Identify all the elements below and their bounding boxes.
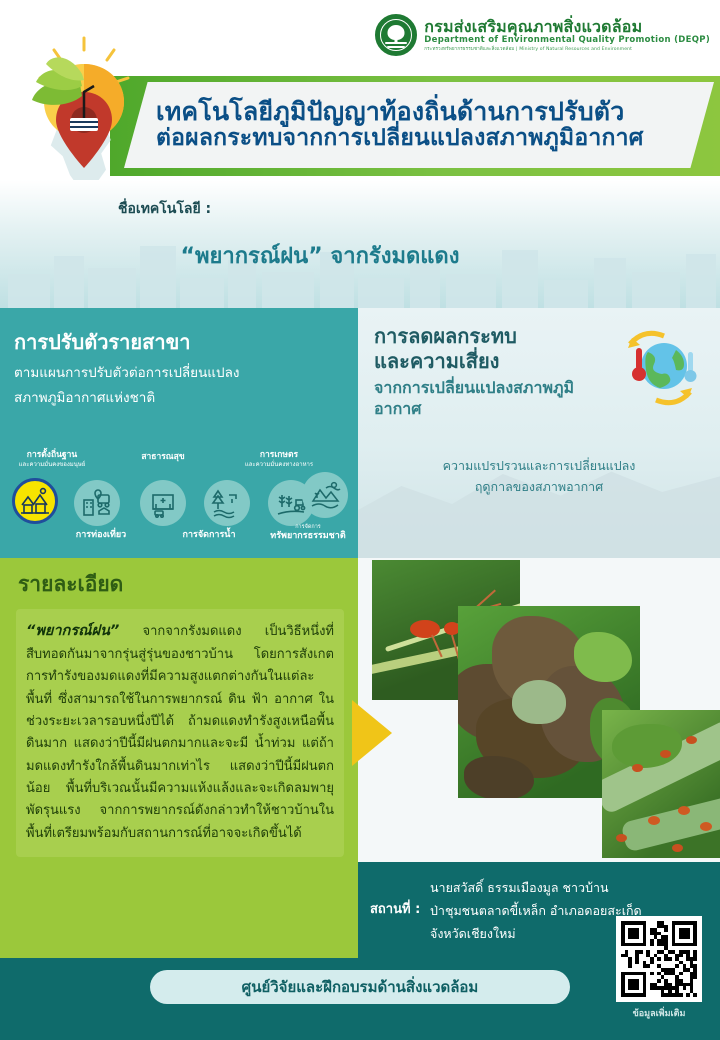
globe-thermometer-climate-icon	[614, 322, 706, 414]
sector-label-settlement: การตั้งถิ่นฐาน และความมั่นคงของมนุษย์	[2, 450, 102, 468]
risk-note-line1: ความแปรปรวนและการเปลี่ยนแปลง	[358, 456, 720, 477]
sector-panel-heading: การปรับตัวรายสาขา	[14, 326, 344, 358]
banner-title-line2: ต่อผลกระทบจากการเปลี่ยนแปลงสภาพภูมิอากาศ	[156, 126, 714, 152]
risk-heading-line1: การลดผลกระทบ	[374, 324, 604, 349]
details-heading: รายละเอียด	[18, 568, 358, 601]
poster-footer: ศูนย์วิจัยและฝึกอบรมด้านสิ่งแวดล้อม ข้อม…	[0, 958, 720, 1040]
poster-root: กรมส่งเสริมคุณภาพสิ่งแวดล้อม Department …	[0, 0, 720, 1040]
risk-note-line2: ฤดูกาลของสภาพอากาศ	[358, 477, 720, 498]
sector-label-natural-resources: การจัดการ ทรัพยากรธรรมชาติ	[258, 524, 358, 541]
sector-icon-water-management[interactable]	[204, 480, 250, 526]
place-line1: นายสวัสดิ์ ธรรมเมืองมูล ชาวบ้าน	[430, 876, 660, 899]
risk-heading-line3: จากการเปลี่ยนแปลงสภาพภูมิอากาศ	[374, 378, 604, 420]
technology-name-band: ชื่อเทคโนโลยี : “พยากรณ์ฝน” จากรังมดแดง	[0, 180, 720, 308]
photo-collage	[358, 558, 720, 868]
details-lead: “พยากรณ์ฝน”	[26, 623, 119, 639]
title-banner: เทคโนโลยีภูมิปัญญาท้องถิ่นด้านการปรับตัว…	[110, 76, 720, 176]
sector-label-agriculture: การเกษตร และความมั่นคงทางอาหาร	[224, 450, 334, 468]
risk-reduction-panel: การลดผลกระทบ และความเสี่ยง จากการเปลี่ยน…	[358, 308, 720, 558]
deqp-logo: กรมส่งเสริมคุณภาพสิ่งแวดล้อม Department …	[375, 14, 710, 56]
technology-name: “พยากรณ์ฝน” จากรังมดแดง	[0, 238, 640, 273]
details-panel: รายละเอียด “พยากรณ์ฝน” จากจากรังมดแดง เป…	[0, 558, 358, 958]
water-management-icon	[211, 487, 243, 519]
natural-resources-mountain-icon	[309, 479, 341, 511]
banner-title-line1: เทคโนโลยีภูมิปัญญาท้องถิ่นด้านการปรับตัว	[156, 98, 714, 126]
tourism-transport-icon	[81, 487, 113, 519]
research-center-name: ศูนย์วิจัยและฝึกอบรมด้านสิ่งแวดล้อม	[150, 970, 570, 1004]
sector-icon-row: การตั้งถิ่นฐาน และความมั่นคงของมนุษย์ สา…	[0, 450, 358, 558]
sector-panel-subheading-line2: สภาพภูมิอากาศแห่งชาติ	[14, 388, 344, 408]
details-body: “พยากรณ์ฝน” จากจากรังมดแดง เป็นวิธีหนึ่ง…	[16, 609, 344, 857]
risk-heading-line2: และความเสี่ยง	[374, 349, 604, 374]
org-name-th: กรมส่งเสริมคุณภาพสิ่งแวดล้อม	[424, 18, 710, 36]
org-name-en: Department of Environmental Quality Prom…	[424, 36, 710, 46]
technology-label: ชื่อเทคโนโลยี :	[118, 198, 211, 220]
weaver-ants-on-leaves-photo	[602, 710, 720, 858]
sector-icon-natural-resources[interactable]	[302, 472, 348, 518]
hospital-icon	[147, 487, 179, 519]
sector-icon-tourism-transport[interactable]	[74, 480, 120, 526]
details-text: จากจากรังมดแดง เป็นวิธีหนึ่งที่สืบทอดกัน…	[26, 624, 334, 841]
poster-header: กรมส่งเสริมคุณภาพสิ่งแวดล้อม Department …	[0, 0, 720, 180]
sector-icon-settlement-houses[interactable]	[12, 478, 58, 524]
sector-label-tourism: การท่องเที่ยว	[56, 530, 146, 541]
sector-panel-subheading-line1: ตามแผนการปรับตัวต่อการเปลี่ยนแปลง	[14, 363, 344, 383]
org-ministry: กระทรวงทรัพยากรธรรมชาติและสิ่งแวดล้อม | …	[424, 47, 710, 52]
qr-caption: ข้อมูลเพิ่มเติม	[616, 1006, 702, 1020]
place-label: สถานที่ :	[370, 898, 420, 919]
sector-label-water: การจัดการน้ำ	[164, 530, 254, 541]
sector-label-health: สาธารณสุข	[118, 452, 208, 463]
sector-adaptation-panel: การปรับตัวรายสาขา ตามแผนการปรับตัวต่อการ…	[0, 308, 358, 558]
qr-code-icon[interactable]	[616, 916, 702, 1002]
sector-icon-hospital[interactable]	[140, 480, 186, 526]
settlement-houses-icon	[19, 485, 51, 517]
tree-water-seal-icon	[375, 14, 417, 56]
